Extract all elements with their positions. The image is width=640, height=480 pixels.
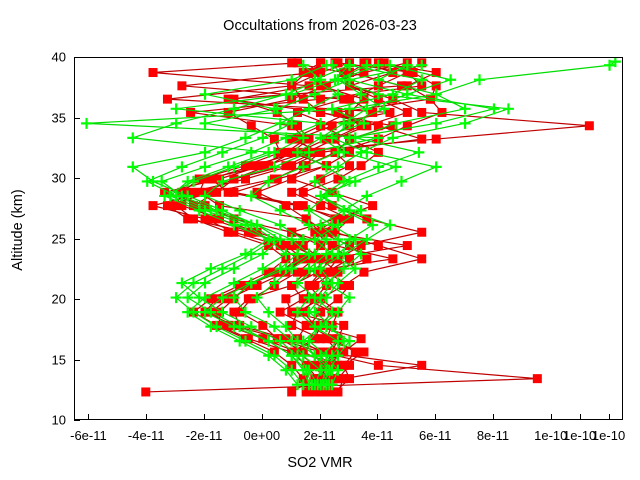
data-point-marker <box>246 147 257 158</box>
data-point-marker <box>240 132 251 143</box>
data-point-marker <box>357 334 366 343</box>
data-point-marker <box>445 74 456 85</box>
data-point-marker <box>351 348 360 357</box>
data-point-marker <box>310 281 319 290</box>
page-title: Occultations from 2026-03-23 <box>0 18 640 34</box>
data-point-marker <box>503 103 514 114</box>
series-occultation-green <box>81 58 621 390</box>
x-tick-label: 2e-11 <box>303 428 335 443</box>
x-tick-label: -4e-11 <box>128 428 165 443</box>
x-tick-mark <box>320 414 321 420</box>
data-point-marker <box>403 108 412 117</box>
x-tick-label: 0e+00 <box>244 428 281 443</box>
data-point-marker <box>315 190 326 201</box>
data-point-marker <box>345 281 354 290</box>
data-point-marker <box>474 74 485 85</box>
x-tick-label: -6e-11 <box>70 428 107 443</box>
data-point-marker <box>431 118 442 129</box>
data-point-marker <box>163 201 172 210</box>
y-tick-mark <box>74 57 80 58</box>
y-tick-label: 15 <box>26 352 66 367</box>
y-tick-label: 30 <box>26 171 66 186</box>
data-point-marker <box>287 175 296 184</box>
data-point-marker <box>345 161 354 170</box>
x-tick-mark <box>609 414 610 420</box>
x-tick-mark <box>377 414 378 420</box>
data-point-marker <box>359 348 368 357</box>
y-tick-label: 25 <box>26 231 66 246</box>
data-point-marker <box>357 161 366 170</box>
data-point-marker <box>356 205 367 216</box>
data-point-marker <box>339 361 348 370</box>
y-tick-label: 10 <box>26 413 66 428</box>
data-point-marker <box>149 201 158 210</box>
data-point-marker <box>287 188 296 197</box>
data-point-marker <box>186 108 195 117</box>
data-point-marker <box>417 254 426 263</box>
data-point-marker <box>293 201 302 210</box>
data-point-marker <box>247 121 256 130</box>
data-point-marker <box>247 294 256 303</box>
data-point-marker <box>333 294 342 303</box>
data-point-marker <box>362 254 371 263</box>
data-point-marker <box>417 108 426 117</box>
data-point-marker <box>176 161 187 172</box>
y-tick-mark <box>74 239 80 240</box>
data-point-marker <box>368 201 377 210</box>
data-point-marker <box>390 161 401 172</box>
data-point-marker <box>81 118 92 129</box>
y-tick-mark <box>74 299 80 300</box>
data-point-marker <box>417 135 426 144</box>
data-point-marker <box>316 201 325 210</box>
data-point-marker <box>384 219 395 230</box>
x-tick-mark <box>580 414 581 420</box>
x-tick-label: -2e-11 <box>186 428 223 443</box>
data-point-marker <box>171 103 182 114</box>
data-point-marker <box>585 121 594 130</box>
x-tick-mark <box>262 414 263 420</box>
data-point-marker <box>388 254 397 263</box>
data-point-marker <box>276 308 285 317</box>
occultation-scatter-plot: Occultations from 2026-03-23 10152025303… <box>0 0 640 480</box>
data-point-marker <box>339 321 348 330</box>
y-tick-label: 35 <box>26 110 66 125</box>
x-tick-label: 8e-11 <box>477 428 509 443</box>
data-point-marker <box>403 241 412 250</box>
data-point-marker <box>299 188 308 197</box>
y-tick-label: 20 <box>26 292 66 307</box>
data-point-marker <box>200 89 211 100</box>
data-point-marker <box>304 103 315 114</box>
data-point-marker <box>149 68 158 77</box>
data-point-marker <box>177 81 186 90</box>
data-point-marker <box>374 361 383 370</box>
data-point-marker <box>224 228 233 237</box>
data-point-marker <box>281 294 290 303</box>
y-axis-label: Altitude (km) <box>10 150 26 310</box>
data-point-marker <box>359 268 368 277</box>
x-tick-mark <box>88 414 89 420</box>
data-point-marker <box>141 387 150 396</box>
data-point-marker <box>189 214 198 223</box>
data-point-marker <box>127 161 138 172</box>
data-point-marker <box>431 161 442 172</box>
data-point-marker <box>345 374 354 383</box>
y-tick-mark <box>74 178 80 179</box>
data-point-marker <box>281 201 290 210</box>
data-point-marker <box>316 108 325 117</box>
data-point-marker <box>200 161 211 172</box>
y-tick-mark <box>74 360 80 361</box>
data-point-marker <box>287 321 296 330</box>
y-tick-mark <box>74 420 80 421</box>
x-tick-mark <box>493 414 494 420</box>
data-point-marker <box>396 176 407 187</box>
data-point-marker <box>344 292 355 303</box>
data-point-marker <box>200 147 211 158</box>
data-point-marker <box>345 254 354 263</box>
data-point-marker <box>163 95 172 104</box>
series-layer <box>75 58 623 420</box>
data-point-marker <box>217 147 228 158</box>
x-tick-mark <box>146 414 147 420</box>
data-point-marker <box>224 188 233 197</box>
data-point-marker <box>287 387 296 396</box>
data-point-marker <box>533 374 542 383</box>
data-point-marker <box>127 132 138 143</box>
data-point-marker <box>413 147 424 158</box>
data-point-marker <box>460 118 471 129</box>
data-point-marker <box>339 95 348 104</box>
plot-area <box>74 57 623 420</box>
data-point-marker <box>361 190 372 201</box>
x-tick-label: 6e-11 <box>419 428 451 443</box>
data-point-marker <box>234 205 245 216</box>
x-tick-label: 1e-10 <box>592 428 625 443</box>
data-point-marker <box>409 68 418 77</box>
data-point-marker <box>305 135 314 144</box>
data-point-marker <box>417 361 426 370</box>
x-axis-label: SO2 VMR <box>0 455 640 471</box>
data-point-marker <box>316 95 325 104</box>
y-tick-label: 40 <box>26 50 66 65</box>
data-point-marker <box>432 135 441 144</box>
data-point-marker <box>332 161 343 172</box>
x-tick-mark <box>204 414 205 420</box>
data-point-marker <box>374 241 383 250</box>
data-point-marker <box>200 118 211 129</box>
y-tick-mark <box>74 118 80 119</box>
x-tick-label: 4e-11 <box>361 428 393 443</box>
data-point-marker <box>417 228 426 237</box>
x-tick-mark <box>435 414 436 420</box>
x-tick-mark <box>551 414 552 420</box>
